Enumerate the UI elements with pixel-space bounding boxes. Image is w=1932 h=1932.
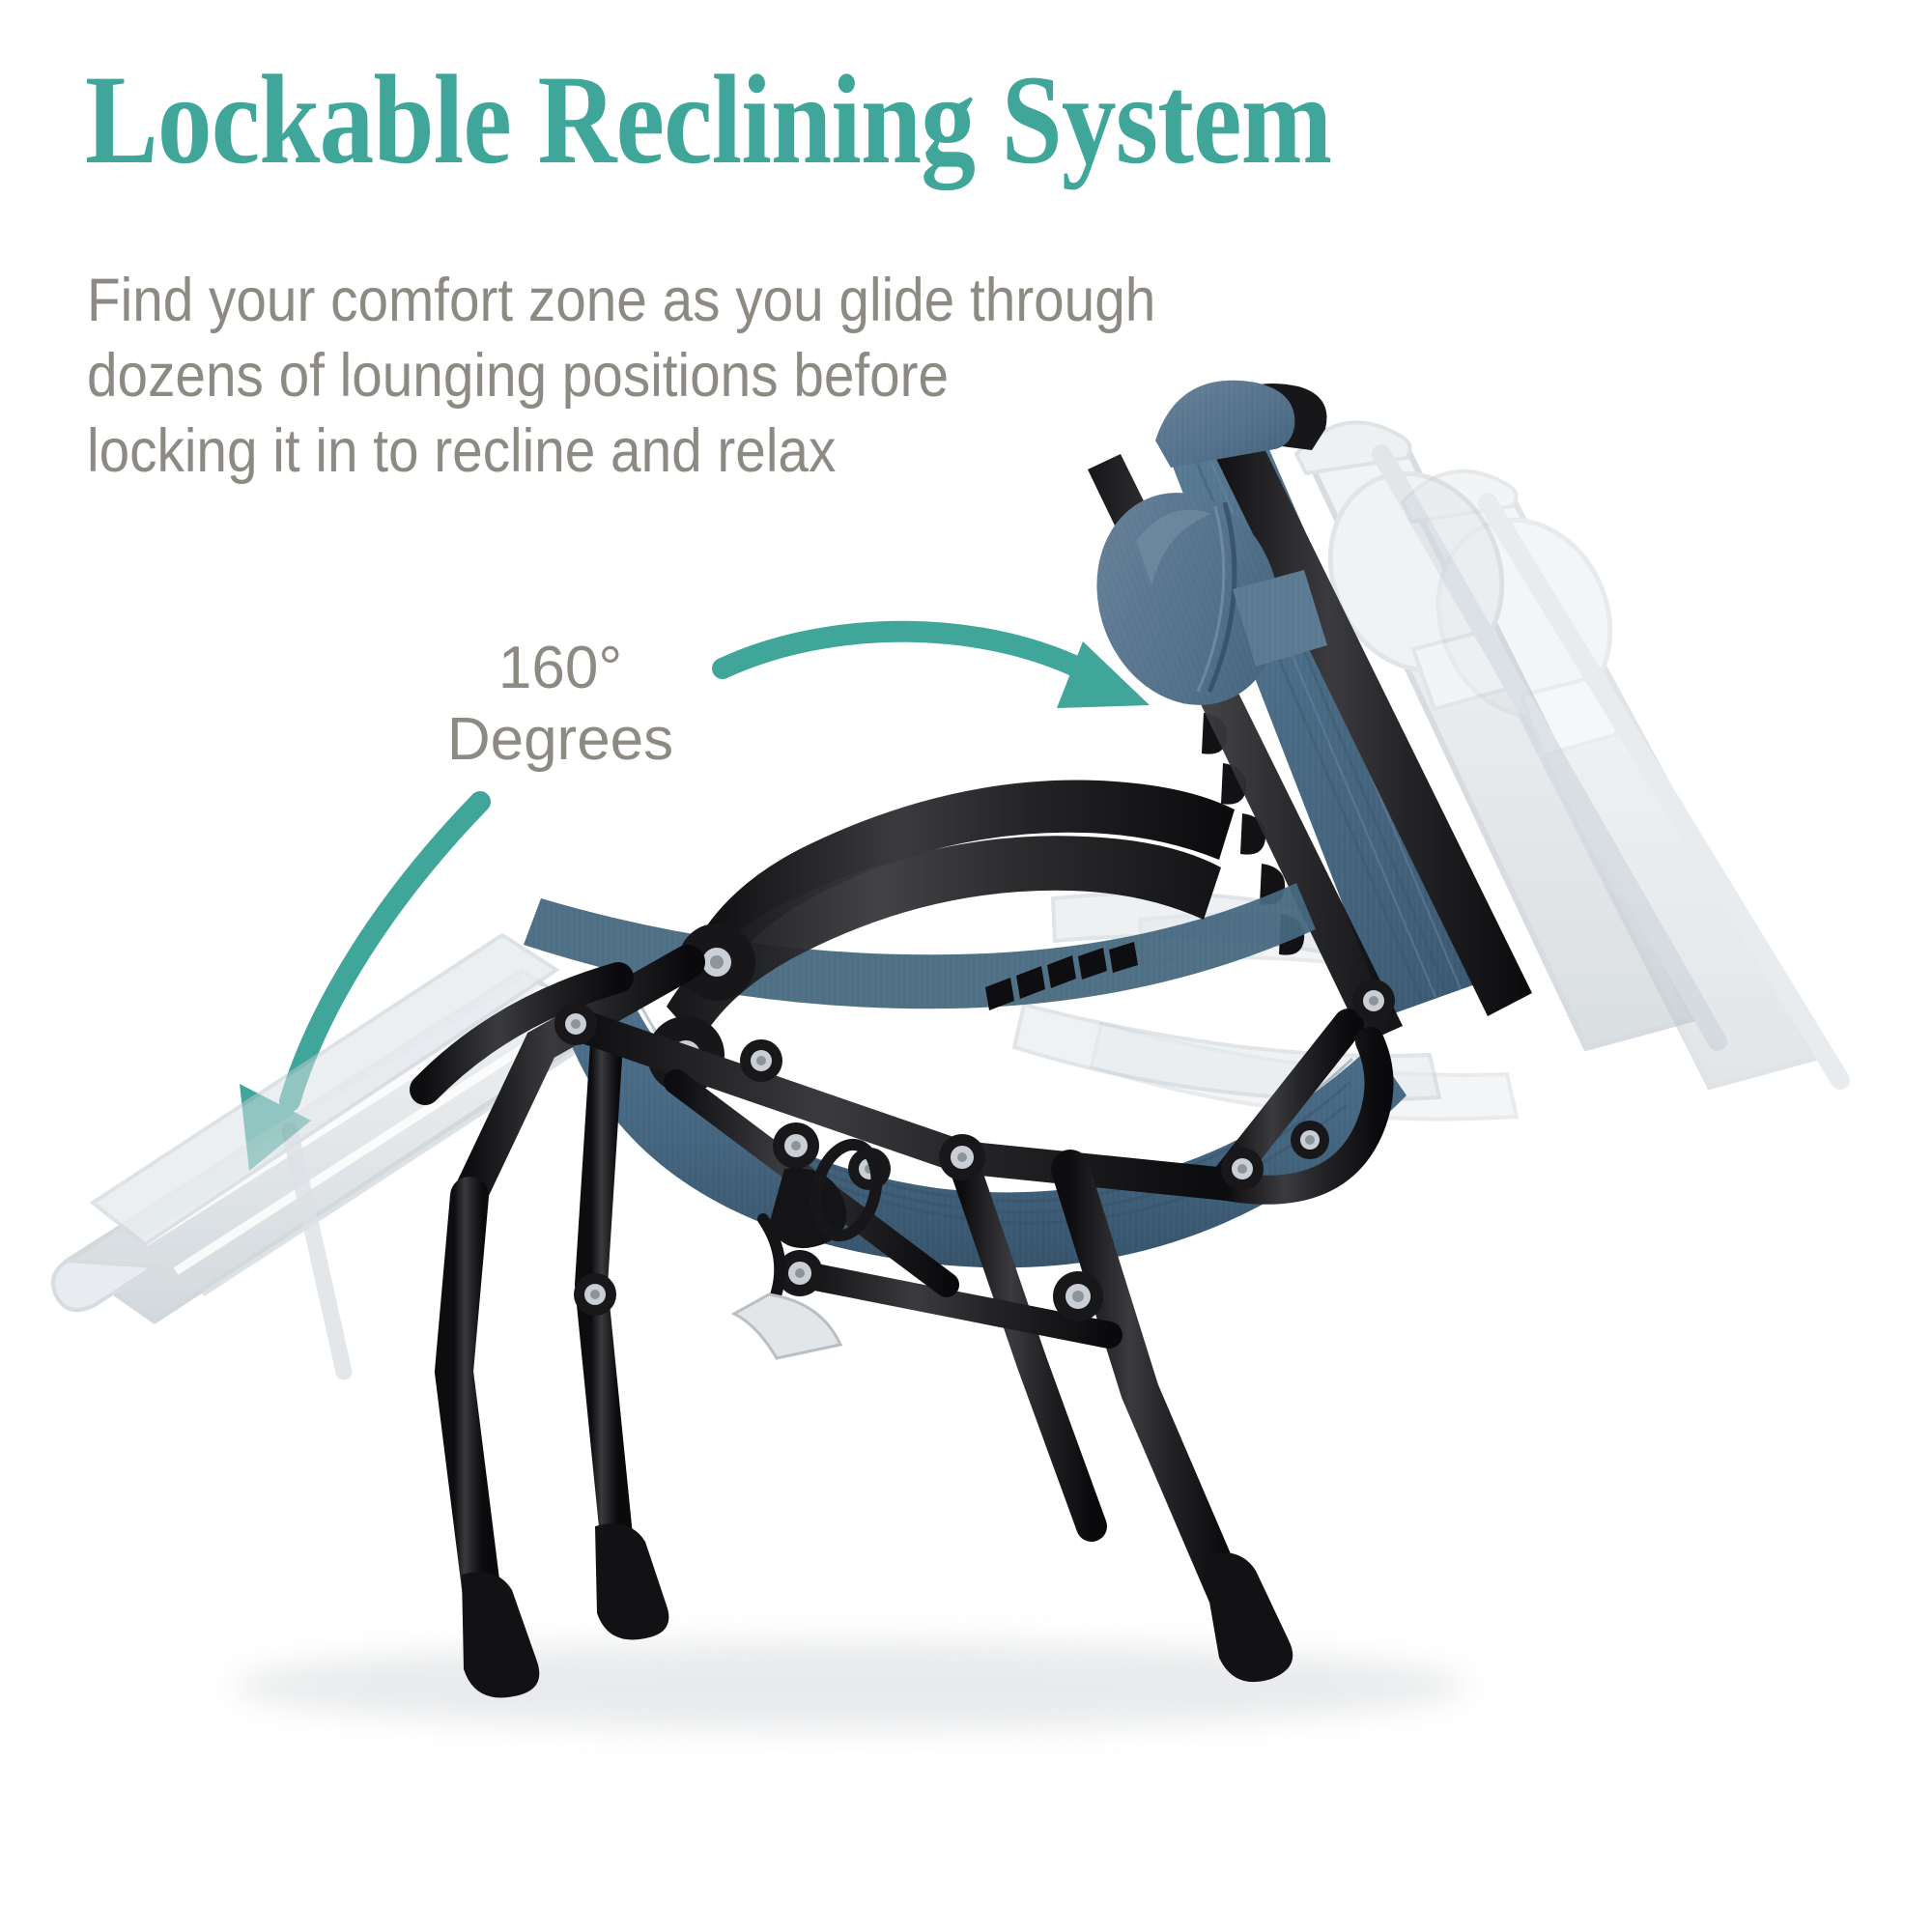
product-illustration [0,0,1932,1932]
front-foot-cap [462,1572,539,1697]
release-tab [734,1294,840,1358]
infographic-canvas: Lockable Reclining System Find your comf… [0,0,1932,1932]
